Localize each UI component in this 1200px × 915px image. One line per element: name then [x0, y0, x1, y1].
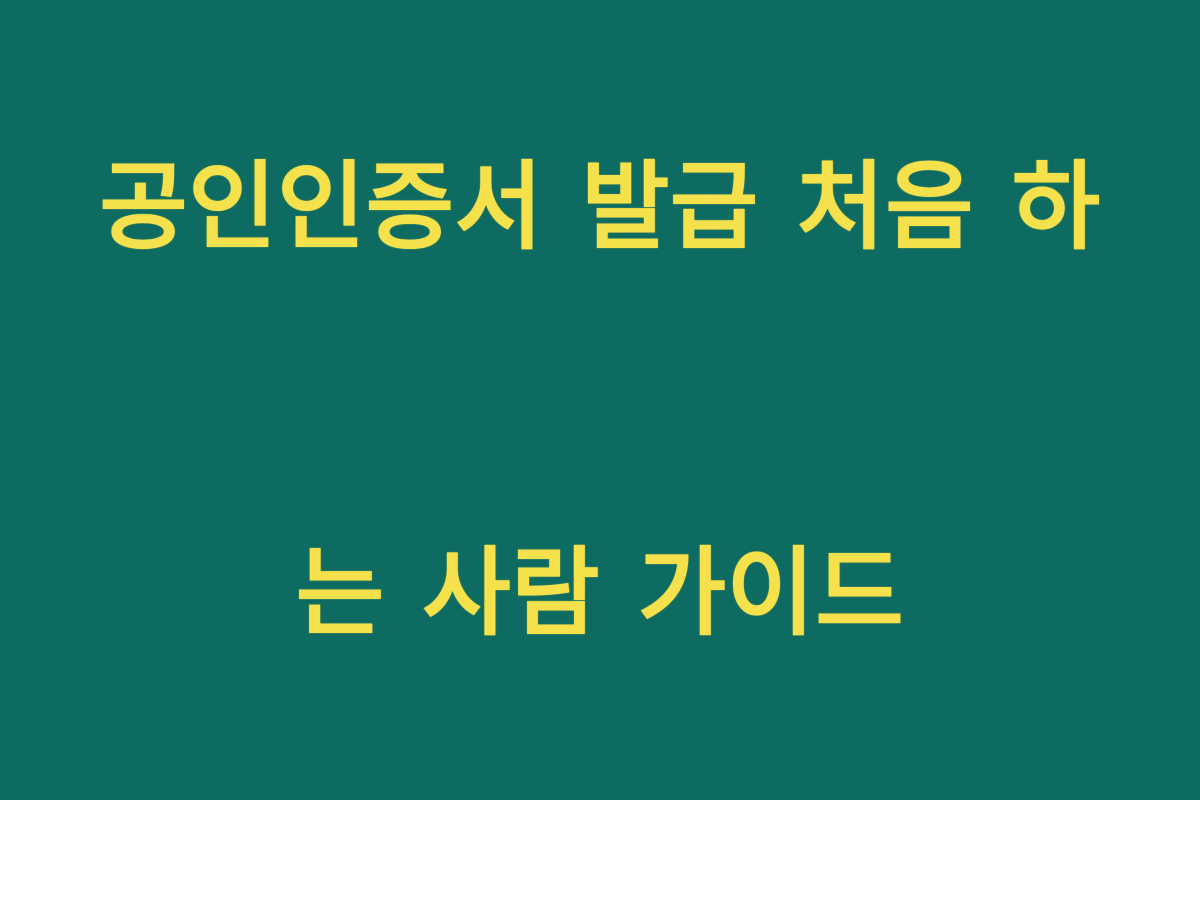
page-title-line-1: 공인인증서 발급 처음 하	[70, 143, 1130, 272]
banner-canvas: 공인인증서 발급 처음 하 는 사람 가이드	[0, 0, 1200, 800]
page-title: 공인인증서 발급 처음 하 는 사람 가이드	[70, 0, 1130, 915]
page-title-line-2: 는 사람 가이드	[70, 529, 1130, 658]
